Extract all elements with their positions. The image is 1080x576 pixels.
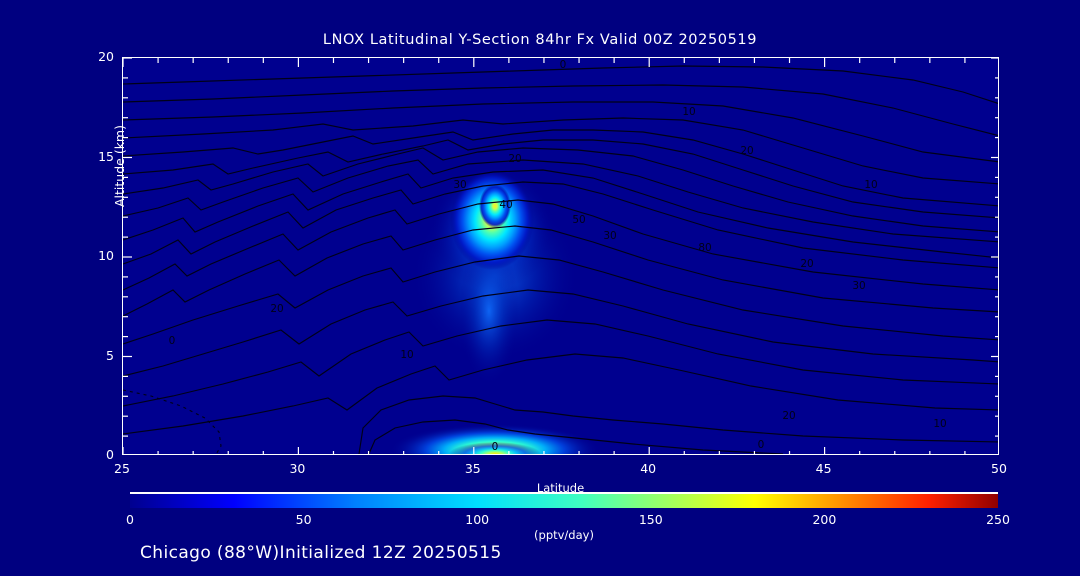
contour-label: 20: [740, 145, 753, 157]
x-axis-tick-label: 40: [628, 461, 668, 476]
y-axis-tick-label: 0: [78, 447, 114, 462]
contour-label: 20: [508, 153, 521, 165]
contour-label: 10: [933, 418, 946, 430]
x-axis-tick-labels: 253035404550: [122, 461, 999, 479]
x-axis-tick-label: 45: [804, 461, 844, 476]
y-axis-title: Altitude (km): [112, 125, 127, 207]
contour-label: 30: [603, 230, 616, 242]
y-axis-tick-label: 15: [78, 149, 114, 164]
y-axis-tick-label: 5: [78, 348, 114, 363]
colorbar-gradient: [130, 492, 998, 508]
footer-caption: Chicago (88°W)Initialized 12Z 20250515: [140, 543, 502, 563]
y-axis-tick-label: 10: [78, 248, 114, 263]
page-title: LNOX Latitudinal Y-Section 84hr Fx Valid…: [0, 32, 1080, 48]
x-axis-tick-label: 50: [979, 461, 1019, 476]
colorbar-tick-label: 0: [100, 512, 160, 527]
colorbar-tick-label: 100: [447, 512, 507, 527]
contour-label: 40: [499, 199, 512, 211]
y-axis-tick-label: 20: [78, 49, 114, 64]
figure-canvas: LNOX Latitudinal Y-Section 84hr Fx Valid…: [0, 0, 1080, 576]
colorbar-tick-label: 200: [794, 512, 854, 527]
x-axis-tick-label: 30: [277, 461, 317, 476]
colorbar-units-label: (pptv/day): [130, 528, 998, 542]
x-axis-tick-label: 25: [102, 461, 142, 476]
colorbar-tick-label: 50: [274, 512, 334, 527]
colorbar-tick-label: 250: [968, 512, 1028, 527]
contour-label: 20: [800, 258, 813, 270]
x-axis-tick-label: 35: [453, 461, 493, 476]
contour-label: 50: [572, 214, 585, 226]
plot-area: 0 20 10 10 20 30 40 50 80 30 20 30 20 0: [122, 57, 999, 455]
contour-label: 0: [560, 59, 567, 71]
colorbar: 050100150200250 (pptv/day): [130, 492, 998, 508]
contour-label: 30: [453, 179, 466, 191]
contour-label: 20: [270, 303, 283, 315]
contour-label: 30: [852, 280, 865, 292]
contour-label: 0: [758, 439, 765, 451]
contour-label: 20: [782, 410, 795, 422]
contour-label: 80: [698, 242, 711, 254]
contour-label: 10: [400, 349, 413, 361]
contour-label: 0: [169, 335, 176, 347]
colorbar-tick-label: 150: [621, 512, 681, 527]
contour-label: 10: [682, 106, 695, 118]
contour-plot: 0 20 10 10 20 30 40 50 80 30 20 30 20 0: [123, 58, 999, 455]
contour-label: 0: [492, 441, 499, 453]
plot-frame: 0 20 10 10 20 30 40 50 80 30 20 30 20 0: [122, 57, 999, 455]
contour-label: 10: [864, 179, 877, 191]
